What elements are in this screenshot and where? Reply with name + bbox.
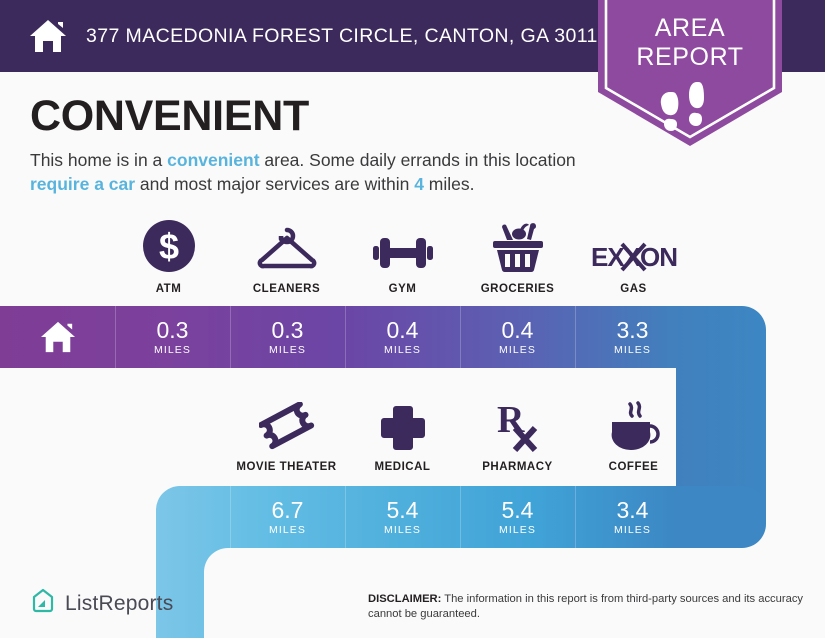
distance-value-medical: 5.4	[387, 499, 419, 522]
medical-cross-icon	[345, 400, 460, 452]
svg-text:$: $	[158, 226, 178, 267]
icon-cell-movie-theater: MOVIE THEATER	[229, 400, 344, 473]
home-icon	[38, 320, 78, 354]
icon-cell-medical: MEDICAL	[345, 400, 460, 473]
distance-cell-cleaners: 0.3 MILES	[230, 306, 345, 368]
distance-cell-gas: 3.3 MILES	[575, 306, 690, 368]
header-content: 377 MACEDONIA FOREST CIRCLE, CANTON, GA …	[28, 0, 609, 72]
page-title: CONVENIENT	[30, 92, 309, 141]
icon-cell-atm: $ ATM	[111, 222, 226, 295]
icon-cell-cleaners: CLEANERS	[229, 222, 344, 295]
disclaimer: DISCLAIMER: The information in this repo…	[368, 592, 813, 621]
listreports-house-icon	[30, 588, 56, 619]
icon-label-cleaners: CLEANERS	[229, 283, 344, 295]
coffee-cup-icon	[576, 400, 691, 452]
rx-icon: R	[460, 400, 575, 452]
distance-value-groceries: 0.4	[502, 319, 534, 342]
disclaimer-label: DISCLAIMER:	[368, 593, 441, 605]
movie-ticket-icon	[229, 400, 344, 452]
hanger-icon	[229, 222, 344, 274]
distance-value-pharmacy: 5.4	[502, 499, 534, 522]
icon-label-pharmacy: PHARMACY	[460, 461, 575, 473]
home-icon	[28, 18, 68, 54]
icon-label-groceries: GROCERIES	[460, 283, 575, 295]
distance-unit-medical: MILES	[384, 524, 421, 536]
distance-unit-coffee: MILES	[614, 524, 651, 536]
distance-unit-cleaners: MILES	[269, 344, 306, 356]
distance-unit-pharmacy: MILES	[499, 524, 536, 536]
icon-label-atm: ATM	[111, 283, 226, 295]
icon-cell-pharmacy: R PHARMACY	[460, 400, 575, 473]
icon-label-movie-theater: MOVIE THEATER	[229, 461, 344, 473]
summary-highlight-require-a-car: require a car	[30, 174, 135, 194]
distance-value-gas: 3.3	[617, 319, 649, 342]
summary-text: This home is in a convenient area. Some …	[30, 148, 590, 196]
area-report-badge: AREA REPORT	[592, 0, 788, 148]
distance-value-movie-theater: 6.7	[272, 499, 304, 522]
distance-unit-atm: MILES	[154, 344, 191, 356]
grocery-basket-icon	[460, 222, 575, 274]
distance-cell-pharmacy: 5.4 MILES	[460, 486, 575, 548]
icon-label-coffee: COFFEE	[576, 461, 691, 473]
summary-part-3: and most major services are within	[135, 174, 414, 194]
distance-value-coffee: 3.4	[617, 499, 649, 522]
summary-part-4: miles.	[424, 174, 475, 194]
distance-value-gym: 0.4	[387, 319, 419, 342]
home-origin-marker	[0, 306, 115, 368]
distance-bar-row2: 6.7 MILES 5.4 MILES 5.4 MILES 3.4 MILES	[140, 486, 766, 548]
icon-cell-groceries: GROCERIES	[460, 222, 575, 295]
distance-unit-gym: MILES	[384, 344, 421, 356]
icon-label-gas: GAS	[576, 283, 691, 295]
distance-cell-atm: 0.3 MILES	[115, 306, 230, 368]
icon-cell-gas: EXXON GAS	[576, 222, 691, 295]
area-report-infographic: 377 MACEDONIA FOREST CIRCLE, CANTON, GA …	[0, 0, 825, 638]
listreports-logo[interactable]: ListReports	[30, 588, 173, 619]
distance-bar-row1: 0.3 MILES 0.3 MILES 0.4 MILES 0.4 MILES …	[0, 306, 766, 368]
atm-dollar-icon: $	[111, 222, 226, 274]
distance-value-cleaners: 0.3	[272, 319, 304, 342]
listreports-wordmark: ListReports	[65, 592, 173, 616]
exxon-logo-icon: EXXON	[576, 222, 691, 274]
icon-label-medical: MEDICAL	[345, 461, 460, 473]
distance-cell-medical: 5.4 MILES	[345, 486, 460, 548]
distance-unit-gas: MILES	[614, 344, 651, 356]
icon-cell-gym: GYM	[345, 222, 460, 295]
distance-unit-groceries: MILES	[499, 344, 536, 356]
distance-cell-gym: 0.4 MILES	[345, 306, 460, 368]
dumbbell-icon	[345, 222, 460, 274]
distance-cell-coffee: 3.4 MILES	[575, 486, 690, 548]
distance-value-atm: 0.3	[157, 319, 189, 342]
summary-part-2: area. Some daily errands in this locatio…	[260, 150, 576, 170]
distance-cell-groceries: 0.4 MILES	[460, 306, 575, 368]
summary-highlight-convenient: convenient	[167, 150, 259, 170]
summary-highlight-miles: 4	[414, 174, 424, 194]
icon-cell-coffee: COFFEE	[576, 400, 691, 473]
distance-unit-movie-theater: MILES	[269, 524, 306, 536]
summary-part-1: This home is in a	[30, 150, 167, 170]
icon-label-gym: GYM	[345, 283, 460, 295]
property-address: 377 MACEDONIA FOREST CIRCLE, CANTON, GA …	[86, 25, 609, 48]
distance-cell-movie-theater: 6.7 MILES	[230, 486, 345, 548]
